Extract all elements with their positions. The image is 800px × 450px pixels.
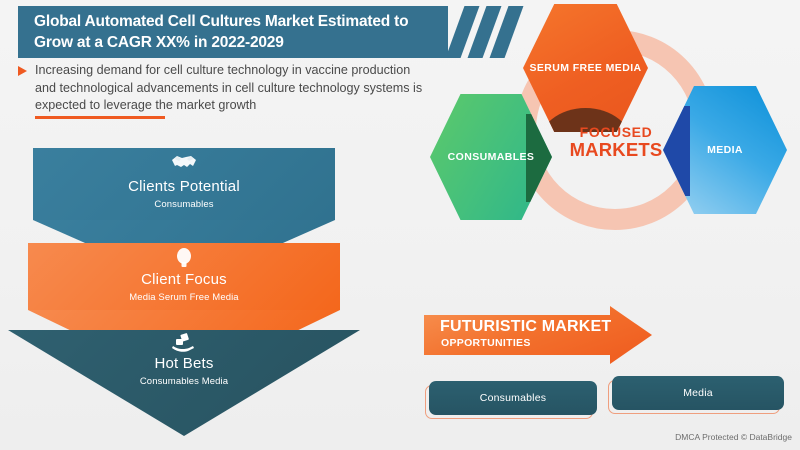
intro-underline bbox=[35, 116, 165, 119]
funnel-tier-3-sub: Consumables Media bbox=[8, 376, 360, 387]
infographic-canvas: Global Automated Cell Cultures Market Es… bbox=[0, 0, 800, 450]
focused-markets-diagram: SERUM FREE MEDIA CONSUMABLES MEDIA FOCUS… bbox=[420, 0, 800, 270]
funnel-tier-1-chevron bbox=[33, 220, 335, 244]
hexagon-media-label: MEDIA bbox=[707, 144, 743, 157]
hexagon-consumables-label: CONSUMABLES bbox=[448, 151, 535, 164]
opportunity-box-media[interactable]: Media bbox=[612, 376, 784, 410]
lightbulb-icon bbox=[28, 247, 340, 269]
hexagon-serum-free-media-label: SERUM FREE MEDIA bbox=[530, 62, 642, 75]
funnel-tier-1-label: Clients Potential bbox=[33, 178, 335, 195]
header-bar: Global Automated Cell Cultures Market Es… bbox=[18, 6, 448, 58]
page-title: Global Automated Cell Cultures Market Es… bbox=[34, 11, 438, 53]
futuristic-market-title: FUTURISTIC MARKET bbox=[440, 318, 611, 336]
handshake-icon bbox=[33, 153, 335, 171]
funnel-tier-2-label: Client Focus bbox=[28, 271, 340, 288]
funnel-tier-1-sub: Consumables bbox=[33, 199, 335, 210]
funnel-tier-1-text: Clients Potential Consumables bbox=[33, 178, 335, 210]
hand-coin-icon bbox=[8, 333, 360, 353]
funnel-tier-2-text: Client Focus Media Serum Free Media bbox=[28, 271, 340, 303]
opportunity-box-consumables[interactable]: Consumables bbox=[429, 381, 597, 415]
bullet-triangle-icon bbox=[18, 66, 27, 76]
focused-label: FOCUSED bbox=[556, 124, 676, 140]
funnel-tier-2-sub: Media Serum Free Media bbox=[28, 292, 340, 303]
funnel-tier-3-text: Hot Bets Consumables Media bbox=[8, 355, 360, 387]
funnel-tier-3-label: Hot Bets bbox=[8, 355, 360, 372]
markets-label: MARKETS bbox=[556, 139, 676, 161]
intro-paragraph: Increasing demand for cell culture techn… bbox=[35, 62, 430, 115]
footer-credit: DMCA Protected © DataBridge bbox=[675, 432, 792, 442]
futuristic-market-subtitle: OPPORTUNITIES bbox=[441, 337, 531, 349]
funnel-diagram: Clients Potential Consumables Client Foc… bbox=[0, 130, 420, 450]
focused-markets-center-text: FOCUSED MARKETS bbox=[556, 124, 676, 161]
